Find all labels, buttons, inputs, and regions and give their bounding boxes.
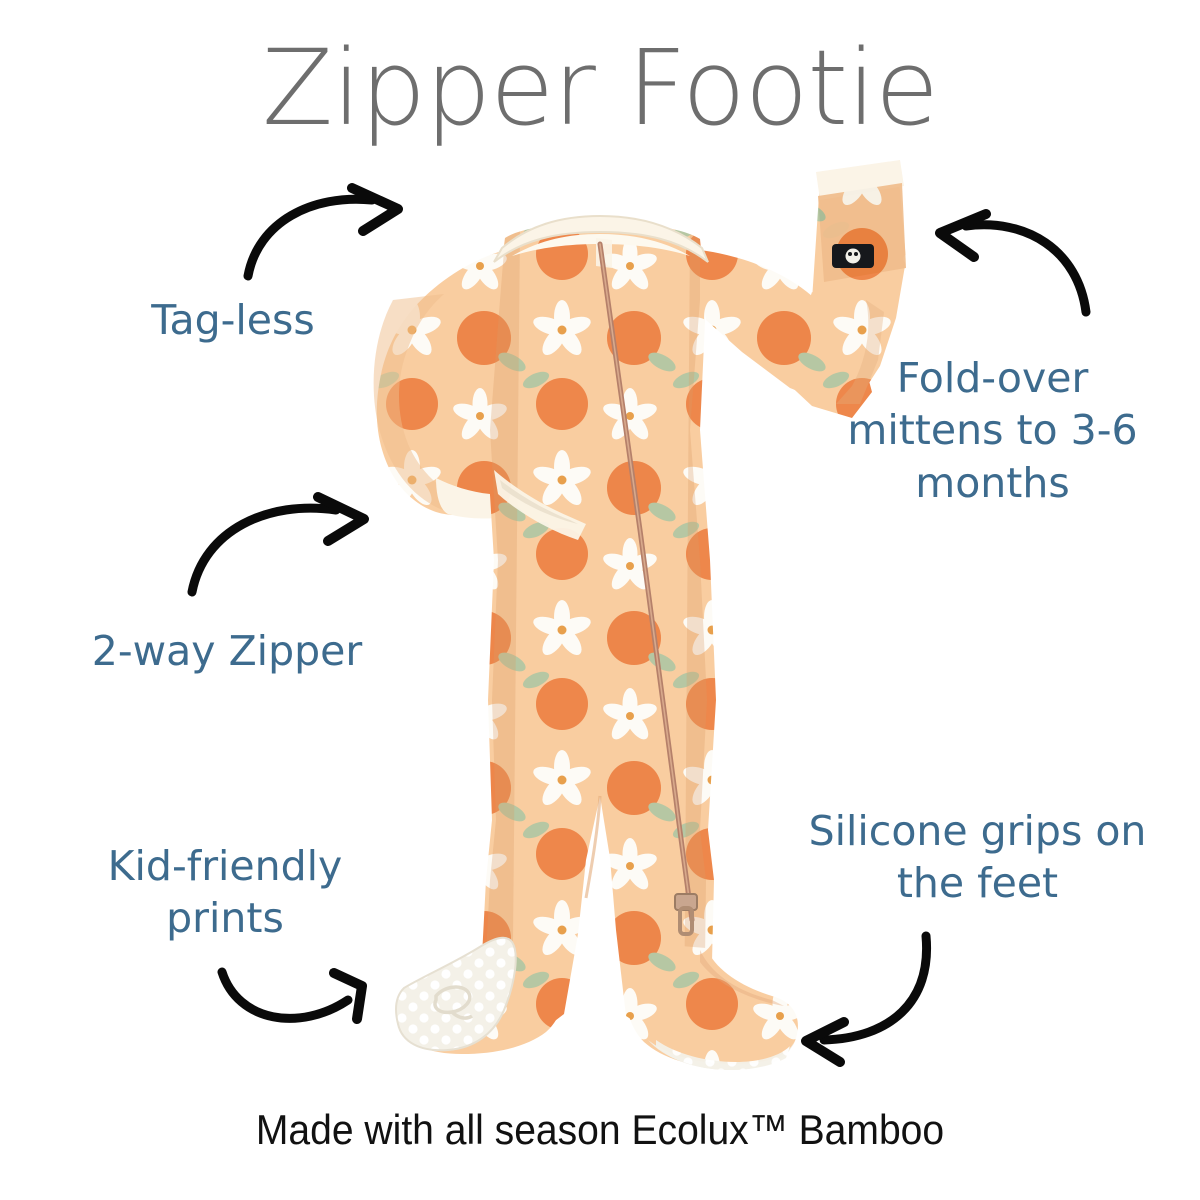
feature-label-fold-over-mittens: Fold-over mittens to 3-6 months [820, 352, 1165, 509]
feature-label-kid-friendly-prints: Kid-friendly prints [60, 840, 390, 945]
left-foot [396, 938, 564, 1054]
product-image-zipper-footie [0, 0, 1200, 1200]
feature-label-silicone-grips: Silicone grips on the feet [785, 805, 1170, 910]
feature-label-tag-less: Tag-less [78, 294, 388, 346]
feature-label-two-way-zipper: 2-way Zipper [52, 625, 402, 677]
footer-caption: Made with all season Ecolux™ Bamboo [42, 1106, 1158, 1154]
right-foot [626, 942, 798, 1070]
infographic-canvas: Zipper Footie Tag-less 2-way Zipper Kid-… [0, 0, 1200, 1200]
footie-body [476, 216, 722, 1040]
page-title: Zipper Footie [0, 30, 1200, 146]
brand-tag [832, 244, 874, 268]
